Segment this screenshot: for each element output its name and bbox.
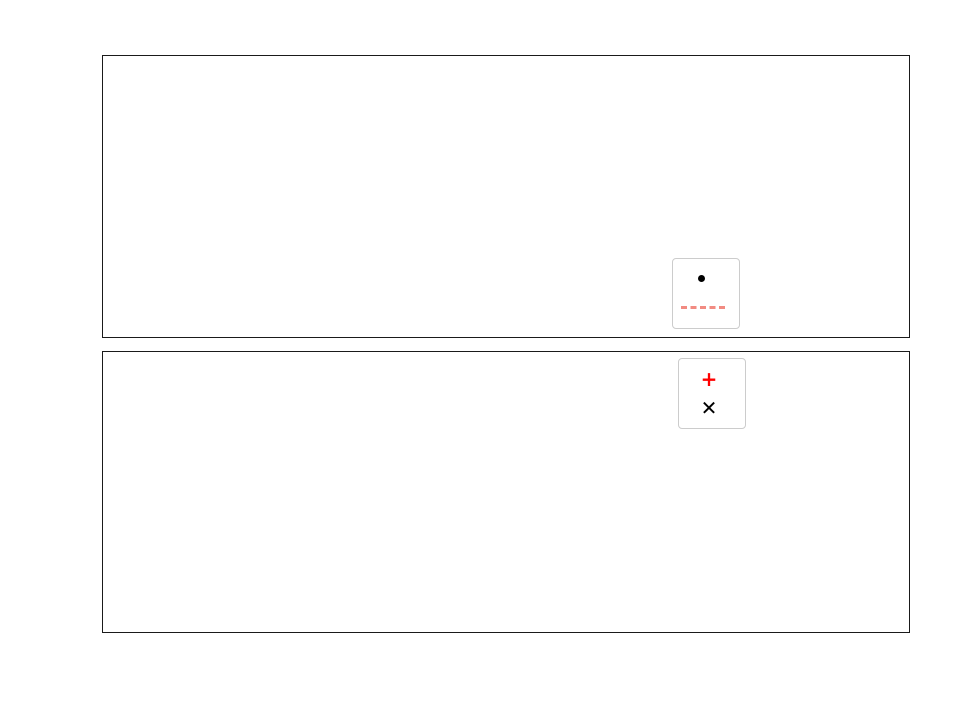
plus-marker-icon: +: [686, 368, 732, 390]
bottom-panel-svg: [103, 352, 909, 632]
top-panel-plot-area: [102, 55, 910, 338]
legend-item-measurements[interactable]: [680, 264, 730, 293]
bottom-panel-legend[interactable]: + ✕: [678, 358, 746, 429]
legend-item-matched-stars[interactable]: +: [686, 364, 736, 393]
top-panel-legend[interactable]: [672, 258, 740, 329]
bottom-panel-plot-area: [102, 351, 910, 633]
cross-marker-icon: ✕: [686, 397, 732, 419]
top-panel-ytick-group: [22, 0, 92, 720]
legend-item-threshold[interactable]: [680, 293, 730, 322]
threshold-dashed-line-icon: [680, 297, 726, 319]
legend-item-predicted-stars[interactable]: ✕: [686, 393, 736, 422]
measurements-dot-icon: [680, 268, 726, 290]
chart-figure: + ✕: [0, 0, 960, 720]
top-panel-svg: [103, 56, 909, 337]
